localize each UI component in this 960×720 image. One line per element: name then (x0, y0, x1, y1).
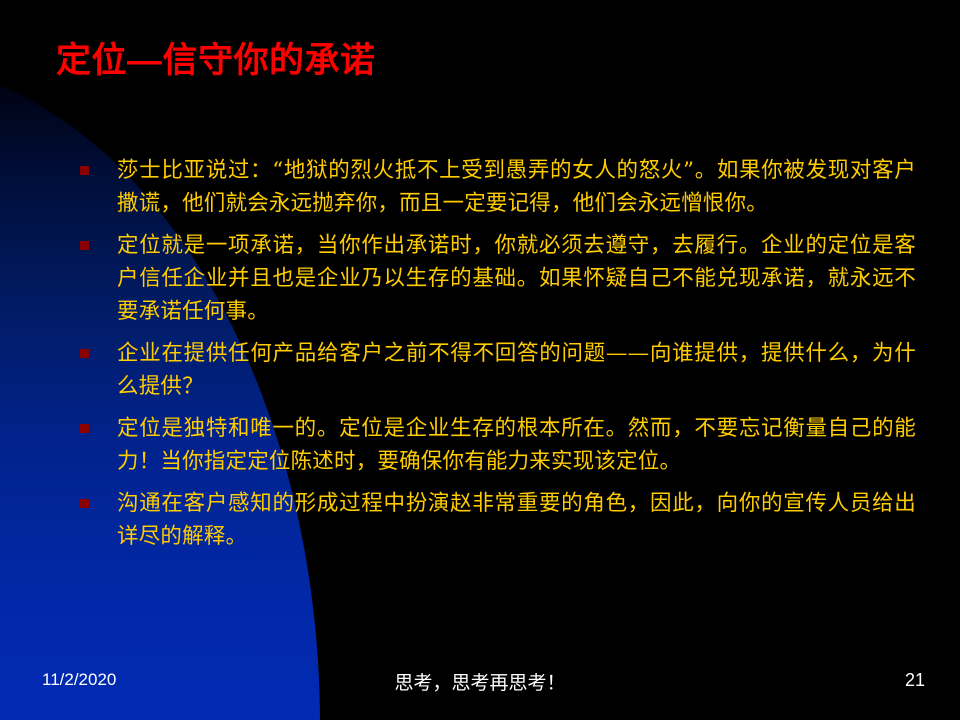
footer-center-text: 思考，思考再思考！ (0, 668, 960, 695)
list-item: 定位是独特和唯一的。定位是企业生存的根本所在。然而，不要忘记衡量自己的能力！当你… (80, 412, 916, 478)
list-item: 莎士比亚说过：“地狱的烈火抵不上受到愚弄的女人的怒火”。如果你被发现对客户撒谎，… (80, 154, 916, 220)
list-item-text: 沟通在客户感知的形成过程中扮演赵非常重要的角色，因此，向你的宣传人员给出详尽的解… (117, 487, 916, 553)
list-item: 沟通在客户感知的形成过程中扮演赵非常重要的角色，因此，向你的宣传人员给出详尽的解… (80, 487, 916, 553)
square-bullet-icon (80, 349, 89, 358)
square-bullet-icon (80, 166, 89, 175)
list-item-text: 莎士比亚说过：“地狱的烈火抵不上受到愚弄的女人的怒火”。如果你被发现对客户撒谎，… (117, 154, 916, 220)
bullet-list: 莎士比亚说过：“地狱的烈火抵不上受到愚弄的女人的怒火”。如果你被发现对客户撒谎，… (80, 154, 916, 562)
slide-title: 定位—信守你的承诺 (56, 41, 916, 81)
list-item: 定位就是一项承诺，当你作出承诺时，你就必须去遵守，去履行。企业的定位是客户信任企… (80, 229, 916, 328)
presentation-slide: 定位—信守你的承诺 莎士比亚说过：“地狱的烈火抵不上受到愚弄的女人的怒火”。如果… (0, 0, 960, 720)
slide-page-number: 21 (905, 670, 925, 691)
square-bullet-icon (80, 499, 89, 508)
list-item-text: 定位是独特和唯一的。定位是企业生存的根本所在。然而，不要忘记衡量自己的能力！当你… (117, 412, 916, 478)
list-item-text: 定位就是一项承诺，当你作出承诺时，你就必须去遵守，去履行。企业的定位是客户信任企… (117, 229, 916, 328)
square-bullet-icon (80, 424, 89, 433)
list-item: 企业在提供任何产品给客户之前不得不回答的问题——向谁提供，提供什么，为什么提供？ (80, 337, 916, 403)
list-item-text: 企业在提供任何产品给客户之前不得不回答的问题——向谁提供，提供什么，为什么提供？ (117, 337, 916, 403)
square-bullet-icon (80, 241, 89, 250)
